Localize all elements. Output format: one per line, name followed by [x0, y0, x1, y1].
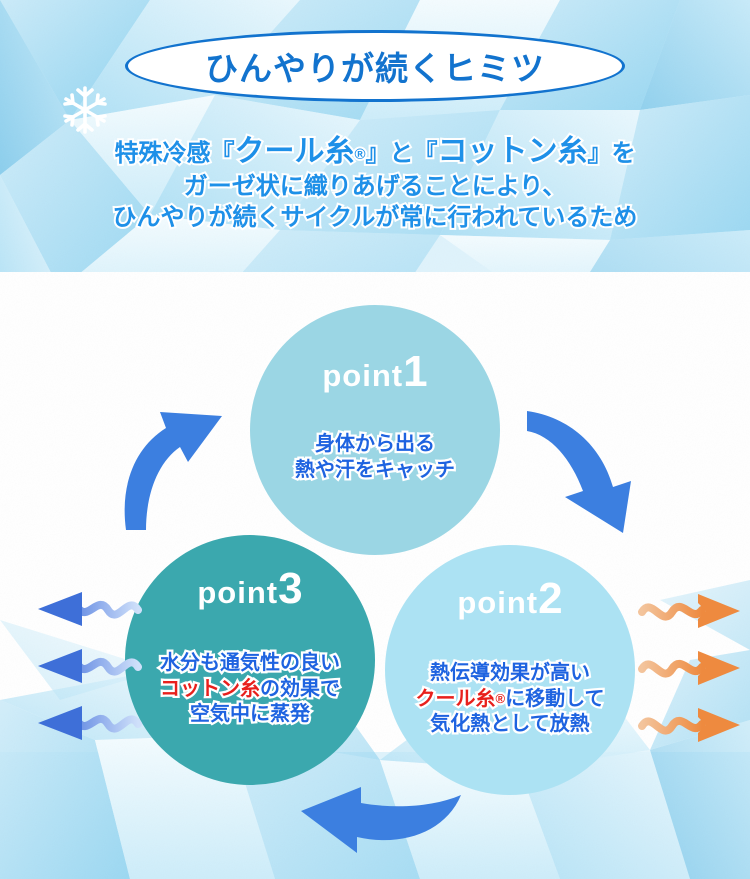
title-banner: ひんやりが続くヒミツ: [125, 30, 625, 102]
point-3-line-3: 空気中に蒸発: [160, 702, 340, 728]
point-3-seg-2b: の効果で: [260, 678, 340, 700]
page-title: ひんやりが続くヒミツ: [205, 42, 545, 90]
point-2-label: point2: [457, 577, 562, 621]
point-3-label-word: point: [197, 575, 278, 610]
point-1-seg-2: 熱や汗をキャッチ: [295, 459, 455, 481]
point-2-seg-3: 気化熱として放熱: [430, 713, 589, 735]
curved-arrow-down-right-icon: [525, 405, 650, 535]
point-3-seg-3: 空気中に蒸発: [190, 703, 310, 725]
point-3-label-number: 3: [278, 564, 302, 613]
heat-release-wavy-arrows-icon: [640, 592, 750, 747]
point-2-registered-mark: ®: [496, 691, 506, 706]
subtitle-block: 特殊冷感『クール糸®』と『コットン糸』を ガーゼ状に織りあげることにより、 ひん…: [0, 132, 750, 233]
point-circle-1: point1 身体から出る 熱や汗をキャッチ: [250, 305, 500, 555]
point-1-line-1: 身体から出る: [295, 432, 455, 458]
curved-arrow-up-right-icon: [118, 400, 258, 535]
point-2-line-1: 熱伝導効果が高い: [416, 661, 605, 687]
point-3-line-1: 水分も通気性の良い: [160, 651, 340, 677]
subtitle-seg-1c: 』と『: [366, 140, 438, 167]
point-1-description: 身体から出る 熱や汗をキャッチ: [295, 432, 455, 483]
point-2-seg-highlight: クール糸: [416, 688, 496, 710]
subtitle-line-2: ガーゼ状に織りあげることにより、: [0, 171, 750, 202]
point-1-label-number: 1: [403, 347, 427, 396]
point-2-seg-2b: に移動して: [505, 688, 604, 710]
moisture-evaporation-wavy-arrows-icon: [28, 588, 140, 746]
subtitle-seg-cotton-thread: コットン糸: [438, 135, 588, 168]
point-2-label-word: point: [457, 585, 538, 620]
point-3-seg-1: 水分も通気性の良い: [160, 652, 340, 674]
curved-arrow-left-icon: [295, 785, 465, 855]
point-2-label-number: 2: [538, 574, 562, 623]
subtitle-line-3: ひんやりが続くサイクルが常に行われているため: [0, 202, 750, 233]
point-1-seg-1: 身体から出る: [315, 433, 435, 455]
subtitle-seg-1e: 』を: [588, 140, 636, 167]
point-2-line-2: クール糸®に移動して: [416, 687, 605, 713]
point-3-seg-highlight: コットン糸: [160, 678, 260, 700]
point-3-description: 水分も通気性の良い コットン糸の効果で 空気中に蒸発: [160, 651, 340, 728]
point-circle-3: point3 水分も通気性の良い コットン糸の効果で 空気中に蒸発: [125, 535, 375, 785]
point-1-line-2: 熱や汗をキャッチ: [295, 458, 455, 484]
subtitle-seg-cool-thread: クール糸: [234, 135, 354, 168]
point-2-description: 熱伝導効果が高い クール糸®に移動して 気化熱として放熱: [416, 661, 605, 738]
point-2-seg-1: 熱伝導効果が高い: [430, 662, 590, 684]
point-3-label: point3: [197, 567, 302, 611]
point-1-label-word: point: [322, 358, 403, 393]
subtitle-seg-1a: 特殊冷感『: [114, 140, 234, 167]
infographic-root: ひんやりが続くヒミツ 特殊冷感『クール糸®』と『コットン糸』を ガーゼ状に織りあ…: [0, 0, 750, 879]
point-circle-2: point2 熱伝導効果が高い クール糸®に移動して 気化熱として放熱: [385, 545, 635, 795]
point-1-label: point1: [322, 350, 427, 394]
subtitle-registered-mark: ®: [354, 146, 365, 163]
snowflake-icon: [57, 82, 113, 138]
point-2-line-3: 気化熱として放熱: [416, 712, 605, 738]
point-3-line-2: コットン糸の効果で: [160, 677, 340, 703]
